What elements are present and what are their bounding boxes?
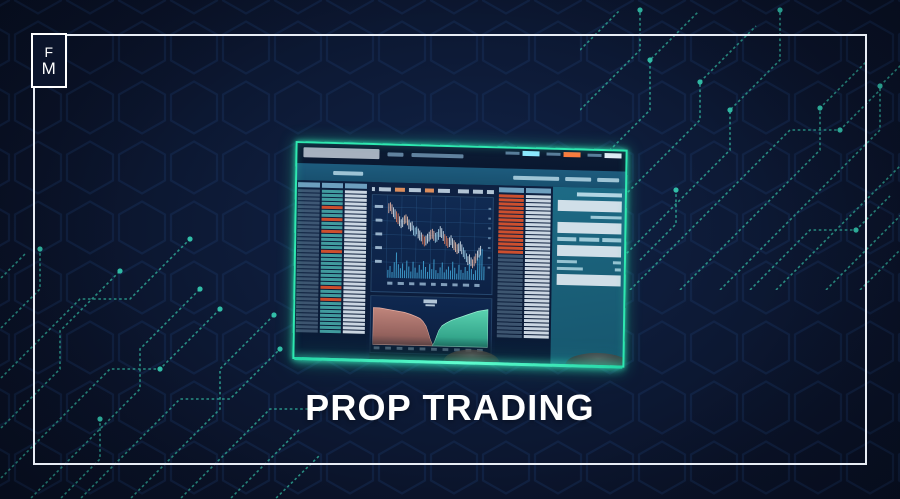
url-bar bbox=[303, 147, 379, 159]
logo-letter-m: M bbox=[42, 60, 57, 77]
right-order-book bbox=[494, 185, 553, 365]
quote-item bbox=[506, 150, 540, 156]
order-book-column bbox=[523, 188, 551, 366]
fm-logo: F M bbox=[31, 33, 67, 88]
quote-item bbox=[588, 153, 622, 159]
quote-item bbox=[547, 152, 581, 158]
order-field-1[interactable] bbox=[558, 200, 622, 213]
bottom-panel-labels bbox=[375, 363, 485, 367]
quote-ticker-strip bbox=[506, 150, 622, 158]
trading-terminal-screenshot bbox=[294, 141, 626, 359]
topbar-label-b bbox=[411, 153, 463, 158]
terminal-body bbox=[292, 180, 627, 368]
page-title: PROP TRADING bbox=[0, 387, 900, 429]
circuit-pattern-bottom-left bbox=[0, 209, 320, 499]
order-chip-group[interactable] bbox=[557, 237, 621, 243]
monitor-surface bbox=[292, 141, 627, 368]
order-book-column bbox=[496, 187, 524, 365]
order-entry-panel bbox=[550, 187, 627, 368]
order-book-column bbox=[319, 183, 343, 361]
circuit-pattern-top-right bbox=[580, 0, 900, 290]
logo-letter-f: F bbox=[44, 45, 53, 59]
order-field-2[interactable] bbox=[557, 222, 621, 235]
order-book-column bbox=[343, 183, 367, 361]
order-label-1 bbox=[591, 216, 622, 220]
order-submit-button[interactable] bbox=[557, 274, 621, 287]
order-note-row bbox=[557, 267, 621, 272]
order-book-column bbox=[295, 182, 319, 360]
order-note-row bbox=[557, 260, 621, 265]
order-field-3[interactable] bbox=[557, 245, 621, 258]
candlestick-chart bbox=[370, 194, 493, 295]
order-panel-title bbox=[577, 192, 622, 197]
promo-image: F M PROP TRADING bbox=[0, 0, 900, 499]
bottom-tool-panel bbox=[369, 356, 491, 364]
topbar-label-a bbox=[387, 152, 403, 156]
chart-panel bbox=[366, 182, 497, 364]
left-order-book bbox=[292, 180, 369, 361]
